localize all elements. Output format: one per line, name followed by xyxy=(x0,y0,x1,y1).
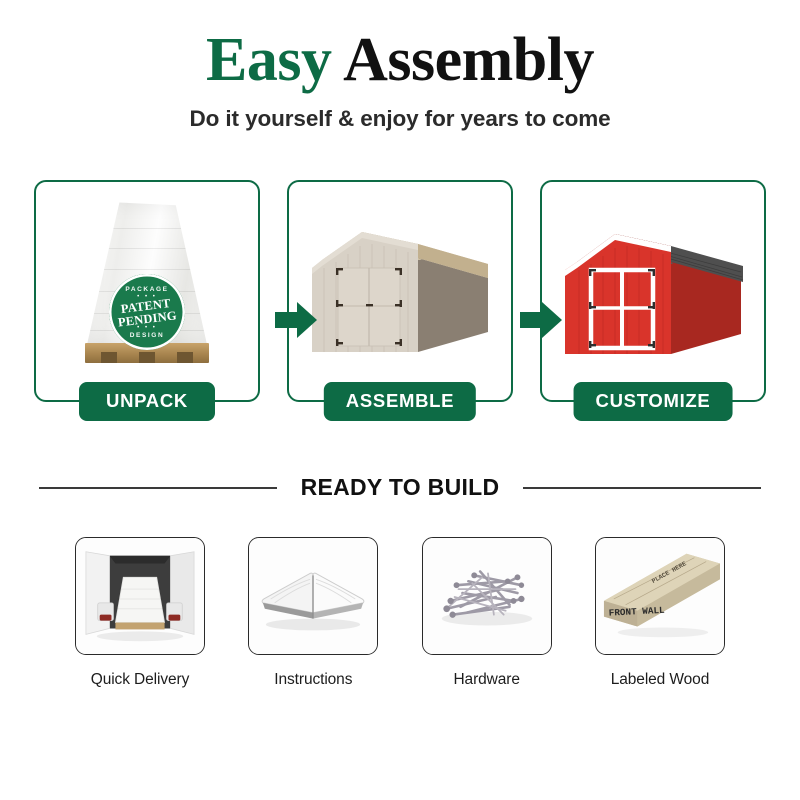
feature-instructions-label: Instructions xyxy=(243,671,383,689)
unfinished-shed-icon xyxy=(300,216,500,366)
title-word-easy: Easy xyxy=(206,26,331,94)
title-word-assembly: Assembly xyxy=(343,26,594,94)
pile-of-nails-icon xyxy=(423,538,551,654)
divider-rule-right xyxy=(523,487,761,489)
features-row: Quick Delivery Instruction xyxy=(70,537,730,689)
arrow-unpack-to-assemble-icon xyxy=(275,300,317,340)
step-assemble-label: ASSEMBLE xyxy=(324,382,476,421)
feature-hardware: Hardware xyxy=(417,537,557,689)
step-customize-frame xyxy=(540,180,766,402)
page-subtitle: Do it yourself & enjoy for years to come xyxy=(0,106,800,132)
feature-instructions-thumb xyxy=(248,537,378,655)
feature-labeled-wood-label: Labeled Wood xyxy=(590,671,730,689)
step-assemble-frame xyxy=(287,180,513,402)
step-assemble: ASSEMBLE xyxy=(287,180,513,402)
divider-rule-left xyxy=(39,487,277,489)
step-unpack-frame: PACKAGE • • • PATENT PENDING • • • DESIG… xyxy=(34,180,260,402)
feature-quick-delivery: Quick Delivery xyxy=(70,537,210,689)
ready-to-build-text: READY TO BUILD xyxy=(301,474,500,501)
delivery-truck-with-pallet-icon xyxy=(76,538,204,654)
feature-labeled-wood-thumb: FRONT WALL PLACE HERE xyxy=(595,537,725,655)
assembly-steps: PACKAGE • • • PATENT PENDING • • • DESIG… xyxy=(34,180,766,402)
feature-instructions: Instructions xyxy=(243,537,383,689)
painted-red-shed-icon xyxy=(553,216,753,366)
feature-quick-delivery-label: Quick Delivery xyxy=(70,671,210,689)
feature-labeled-wood: FRONT WALL PLACE HERE Labeled Wood xyxy=(590,537,730,689)
step-unpack-label: UNPACK xyxy=(79,382,215,421)
patent-pending-badge: PACKAGE • • • PATENT PENDING • • • DESIG… xyxy=(109,274,185,350)
open-book-icon xyxy=(249,538,377,654)
ready-to-build-divider: READY TO BUILD xyxy=(35,474,765,501)
painted-red-shed-image xyxy=(542,182,764,400)
step-unpack: PACKAGE • • • PATENT PENDING • • • DESIG… xyxy=(34,180,260,402)
unfinished-shed-image xyxy=(289,182,511,400)
badge-arc-bottom-text: DESIGN xyxy=(130,332,165,339)
feature-hardware-thumb xyxy=(422,537,552,655)
header: Easy Assembly Do it yourself & enjoy for… xyxy=(0,0,800,132)
step-customize: CUSTOMIZE xyxy=(540,180,766,402)
badge-arc-top-text: PACKAGE xyxy=(125,286,168,293)
feature-hardware-label: Hardware xyxy=(417,671,557,689)
page-title: Easy Assembly xyxy=(0,28,800,92)
feature-quick-delivery-thumb xyxy=(75,537,205,655)
stamped-lumber-icon: FRONT WALL PLACE HERE xyxy=(596,538,724,654)
wrapped-pallet-image: PACKAGE • • • PATENT PENDING • • • DESIG… xyxy=(36,182,258,400)
marketing-infographic: Easy Assembly Do it yourself & enjoy for… xyxy=(0,0,800,800)
arrow-assemble-to-customize-icon xyxy=(520,300,562,340)
badge-main-text: PATENT PENDING xyxy=(116,296,178,329)
step-customize-label: CUSTOMIZE xyxy=(574,382,733,421)
